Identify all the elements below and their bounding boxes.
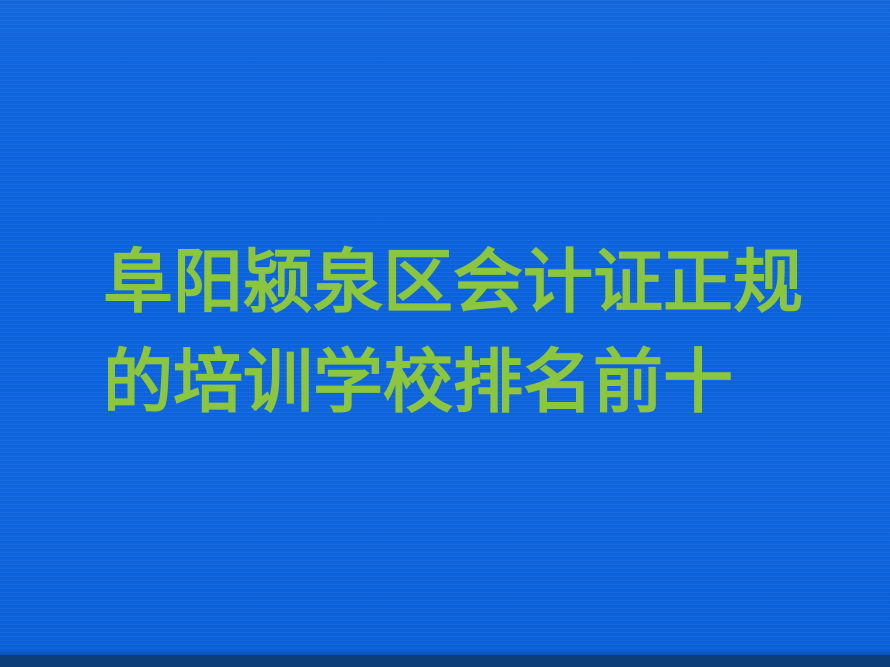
headline-line-2: 的培训学校排名前十 <box>103 332 823 432</box>
banner-image: 阜阳颍泉区会计证正规 的培训学校排名前十 <box>0 0 890 667</box>
bottom-band <box>0 655 890 667</box>
headline-line-1: 阜阳颍泉区会计证正规 <box>103 232 823 332</box>
headline-text-block: 阜阳颍泉区会计证正规 的培训学校排名前十 <box>103 232 823 432</box>
